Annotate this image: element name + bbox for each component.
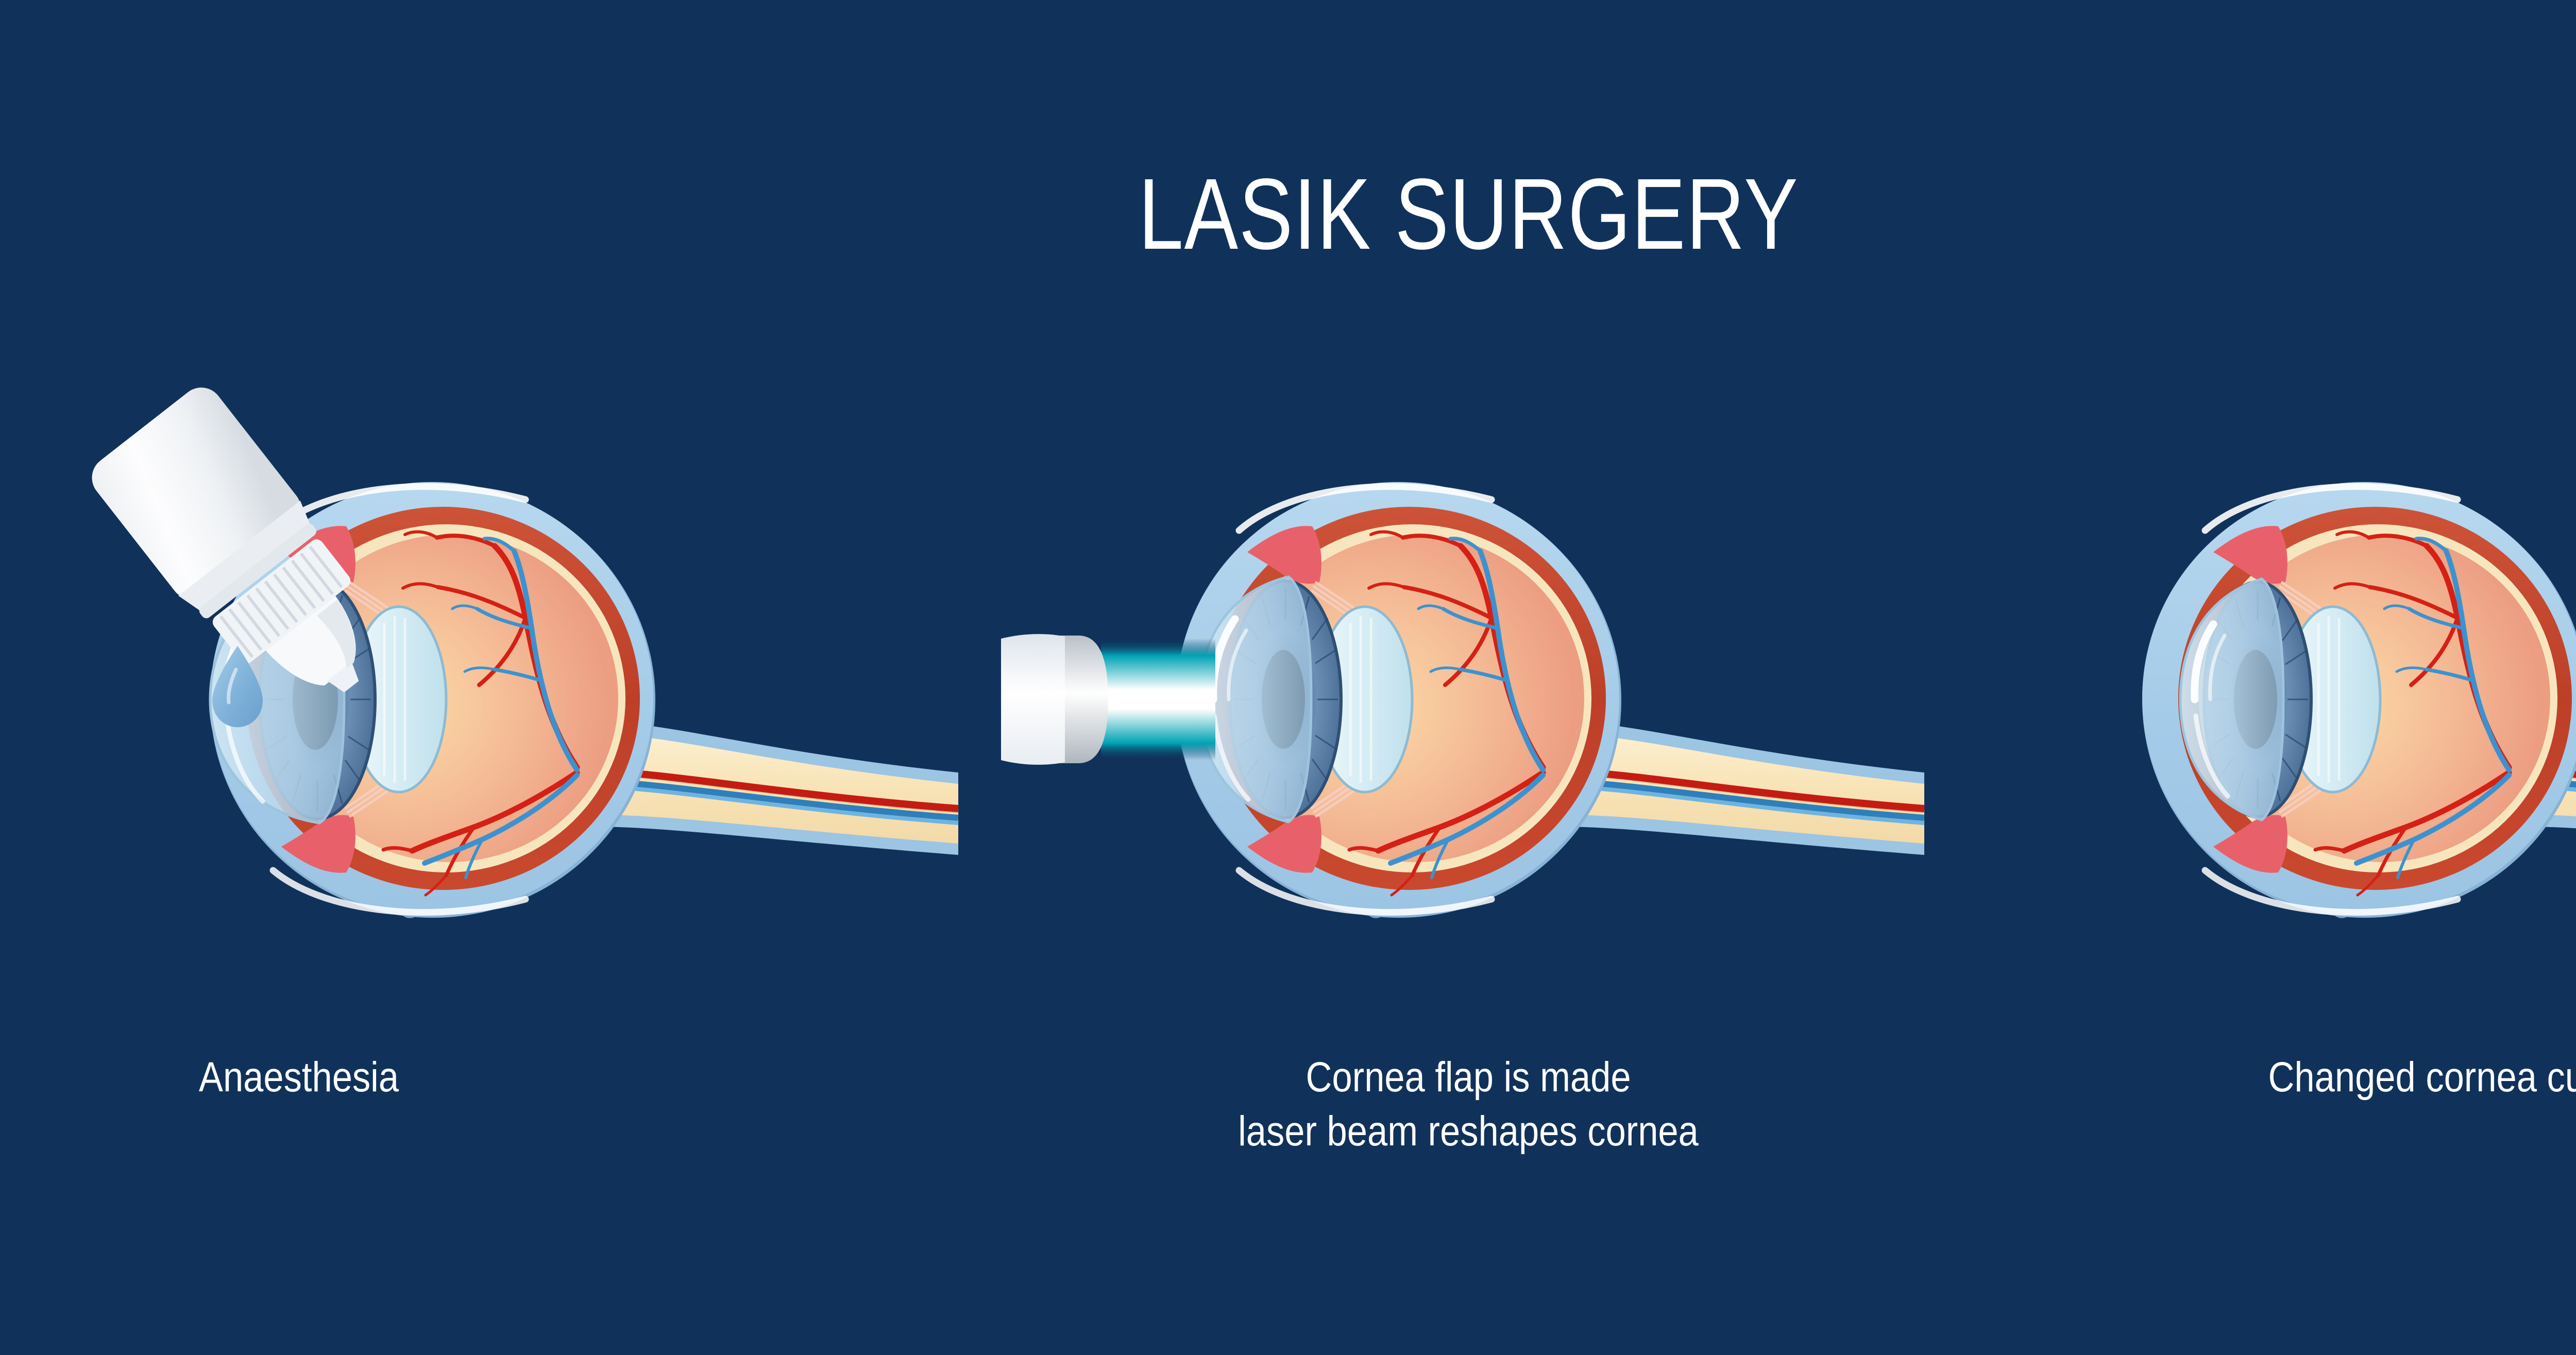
panel-changed-curvature — [1963, 361, 2576, 1030]
caption-changed-curvature: Changed cornea curvature — [2098, 1051, 2576, 1105]
caption-line: laser beam reshapes cornea — [1039, 1105, 1898, 1159]
page-title: LASIK SURGERY — [294, 164, 2576, 265]
laser-beam — [1101, 639, 1215, 760]
laser-device[interactable] — [1001, 634, 1108, 765]
caption-line: Changed cornea curvature — [2098, 1051, 2576, 1105]
laser-body — [1001, 634, 1065, 765]
panel-cornea-flap-laser — [997, 361, 1945, 1030]
caption-line: Anaesthesia — [42, 1051, 556, 1105]
caption-line: Cornea flap is made — [1039, 1051, 1898, 1105]
caption-cornea-flap: Cornea flap is made laser beam reshapes … — [1039, 1051, 1898, 1159]
panel-anaesthesia — [31, 361, 979, 1030]
infographic-canvas: LASIK SURGERY — [0, 0, 2576, 1355]
caption-anaesthesia: Anaesthesia — [42, 1051, 556, 1105]
